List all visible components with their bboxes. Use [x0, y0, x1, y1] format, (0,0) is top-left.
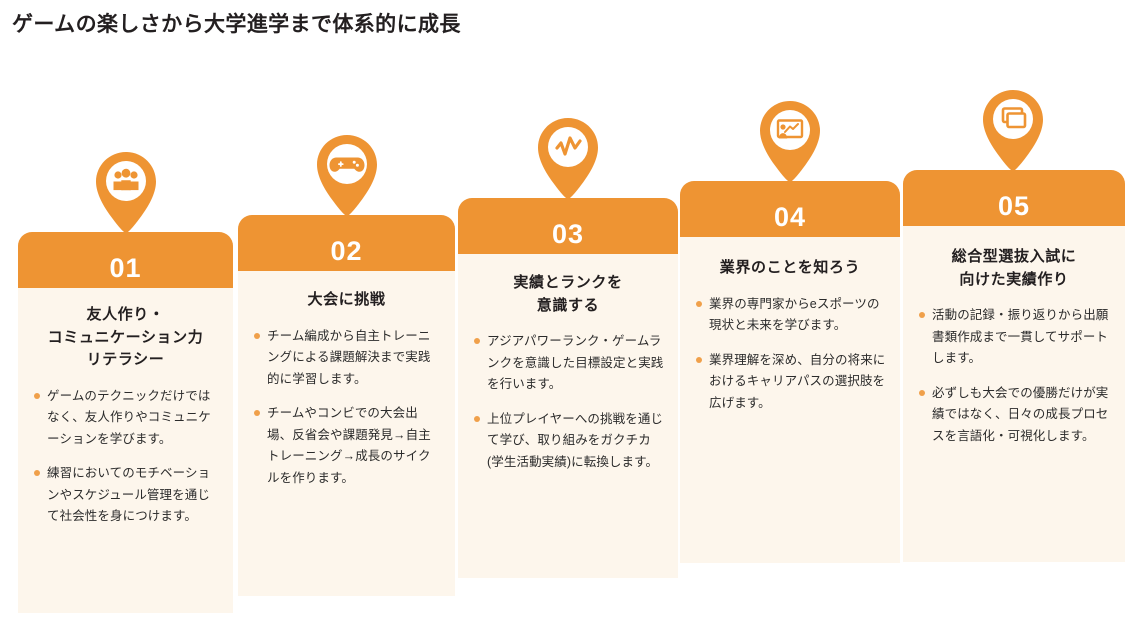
- card-content: 大会に挑戦 チーム編成から自主トレーニングによる課題解決まで実践的に学習します。…: [238, 289, 455, 489]
- pin-marker-01: [95, 152, 157, 232]
- page-title: ゲームの楽しさから大学進学まで体系的に成長: [12, 8, 461, 38]
- card-title: 実績とランクを 意識する: [472, 272, 664, 317]
- card-bullet-list: 業界の専門家からeスポーツの現状と未来を学びます。 業界理解を深め、自分の将来に…: [694, 294, 886, 415]
- list-item: チームやコンビでの大会出場、反省会や課題発見→自主トレーニング→成長のサイクルを…: [252, 403, 441, 489]
- step-number: 01: [109, 255, 141, 288]
- list-item: 上位プレイヤーへの挑戦を通じて学び、取り組みをガクチカ(学生活動実績)に転換しま…: [472, 409, 664, 474]
- card-bullet-list: 活動の記録・振り返りから出願書類作成まで一貫してサポートします。 必ずしも大会で…: [917, 305, 1111, 447]
- card-title: 業界のことを知ろう: [694, 257, 886, 280]
- gamepad-icon: [316, 135, 378, 215]
- step-number: 04: [774, 204, 806, 237]
- list-item: アジアパワーランク・ゲームランクを意識した目標設定と実践を行います。: [472, 331, 664, 396]
- card-bullet-list: ゲームのテクニックだけではなく、友人作りやコミュニケーションを学びます。 練習に…: [32, 386, 219, 528]
- card-header: 04: [680, 181, 900, 237]
- card-title: 大会に挑戦: [252, 289, 441, 312]
- pin-marker-03: [537, 118, 599, 198]
- card-header: 03: [458, 198, 678, 254]
- card-title-line: 総合型選抜入試に: [917, 246, 1111, 269]
- card-content: 業界のことを知ろう 業界の専門家からeスポーツの現状と未来を学びます。 業界理解…: [680, 257, 900, 414]
- step-number: 03: [552, 221, 584, 254]
- people-group-icon: [95, 152, 157, 232]
- card-bullet-list: アジアパワーランク・ゲームランクを意識した目標設定と実践を行います。 上位プレイ…: [472, 331, 664, 473]
- pin-marker-04: [759, 101, 821, 181]
- step-card-04[interactable]: 04 業界のことを知ろう 業界の専門家からeスポーツの現状と未来を学びます。 業…: [680, 181, 900, 563]
- infographic-root: ゲームの楽しさから大学進学まで体系的に成長 01 友人作り・ コミュニケーション…: [0, 0, 1146, 630]
- list-item: 練習においてのモチベーションやスケジュール管理を通じて社会性を身につけます。: [32, 463, 219, 528]
- card-title-line: 大会に挑戦: [252, 289, 441, 312]
- card-title: 総合型選抜入試に 向けた実績作り: [917, 246, 1111, 291]
- trend-chart-icon: [537, 118, 599, 198]
- step-card-02[interactable]: 02 大会に挑戦 チーム編成から自主トレーニングによる課題解決まで実践的に学習し…: [238, 215, 455, 596]
- card-title-line: 業界のことを知ろう: [694, 257, 886, 280]
- list-item: チーム編成から自主トレーニングによる課題解決まで実践的に学習します。: [252, 326, 441, 391]
- card-title-line: 実績とランクを: [472, 272, 664, 295]
- card-content: 実績とランクを 意識する アジアパワーランク・ゲームランクを意識した目標設定と実…: [458, 272, 678, 473]
- list-item: 活動の記録・振り返りから出願書類作成まで一貫してサポートします。: [917, 305, 1111, 370]
- card-header: 01: [18, 232, 233, 288]
- card-title-line: リテラシー: [32, 349, 219, 372]
- step-card-01[interactable]: 01 友人作り・ コミュニケーション力 リテラシー ゲームのテクニックだけではな…: [18, 232, 233, 613]
- list-item: 必ずしも大会での優勝だけが実績ではなく、日々の成長プロセスを言語化・可視化します…: [917, 383, 1111, 448]
- card-title-line: 意識する: [472, 295, 664, 318]
- step-number: 02: [330, 238, 362, 271]
- card-title-line: コミュニケーション力: [32, 327, 219, 350]
- stacked-windows-icon: [982, 90, 1044, 170]
- step-card-05[interactable]: 05 総合型選抜入試に 向けた実績作り 活動の記録・振り返りから出願書類作成まで…: [903, 170, 1125, 562]
- list-item: ゲームのテクニックだけではなく、友人作りやコミュニケーションを学びます。: [32, 386, 219, 451]
- pin-marker-05: [982, 90, 1044, 170]
- step-number: 05: [998, 193, 1030, 226]
- card-bullet-list: チーム編成から自主トレーニングによる課題解決まで実践的に学習します。 チームやコ…: [252, 326, 441, 490]
- list-item: 業界の専門家からeスポーツの現状と未来を学びます。: [694, 294, 886, 337]
- card-title: 友人作り・ コミュニケーション力 リテラシー: [32, 304, 219, 372]
- step-card-03[interactable]: 03 実績とランクを 意識する アジアパワーランク・ゲームランクを意識した目標設…: [458, 198, 678, 578]
- pin-marker-02: [316, 135, 378, 215]
- card-content: 友人作り・ コミュニケーション力 リテラシー ゲームのテクニックだけではなく、友…: [18, 304, 233, 528]
- card-title-line: 向けた実績作り: [917, 269, 1111, 292]
- card-title-line: 友人作り・: [32, 304, 219, 327]
- card-header: 02: [238, 215, 455, 271]
- presentation-person-icon: [759, 101, 821, 181]
- list-item: 業界理解を深め、自分の将来におけるキャリアパスの選択肢を広げます。: [694, 350, 886, 415]
- card-header: 05: [903, 170, 1125, 226]
- card-content: 総合型選抜入試に 向けた実績作り 活動の記録・振り返りから出願書類作成まで一貫し…: [903, 246, 1125, 447]
